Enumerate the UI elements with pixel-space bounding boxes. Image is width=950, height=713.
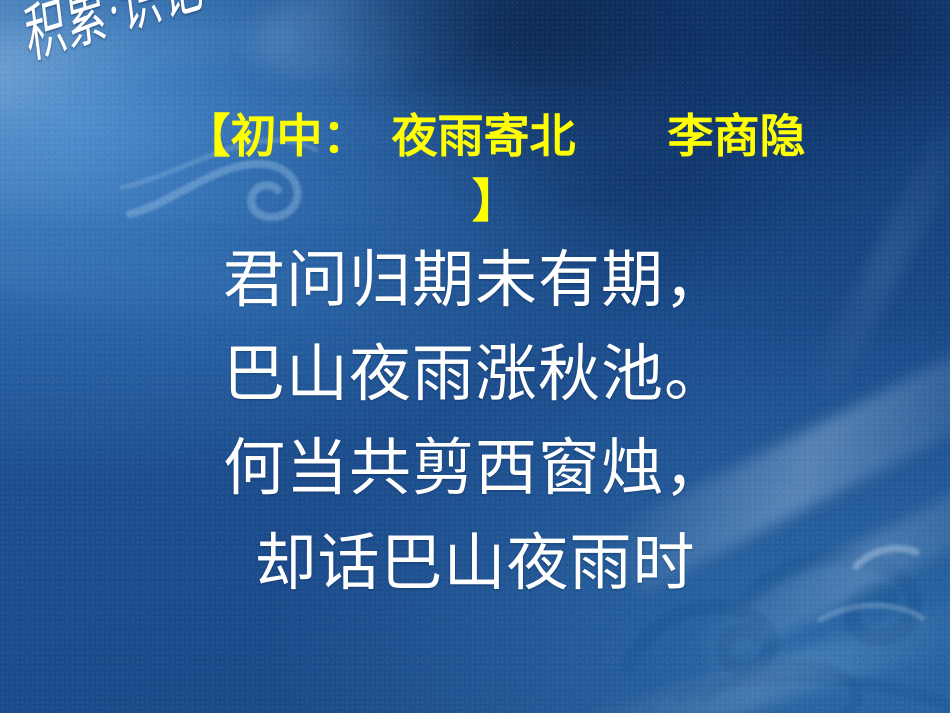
- page-title: 【初中： 夜雨寄北 李商隐 】: [95, 104, 895, 235]
- poem-line: 巴山夜雨涨秋池。: [0, 328, 950, 422]
- slide-canvas: 积累·识记 【初中： 夜雨寄北 李商隐 】 君问归期未有期， 巴山夜雨涨秋池。 …: [0, 0, 950, 713]
- poem-line: 何当共剪西窗烛，: [0, 422, 950, 516]
- poem-line: 君问归期未有期，: [0, 234, 950, 328]
- poem-body: 君问归期未有期， 巴山夜雨涨秋池。 何当共剪西窗烛， 却话巴山夜雨时: [0, 234, 950, 611]
- poem-line: 却话巴山夜雨时: [0, 517, 950, 611]
